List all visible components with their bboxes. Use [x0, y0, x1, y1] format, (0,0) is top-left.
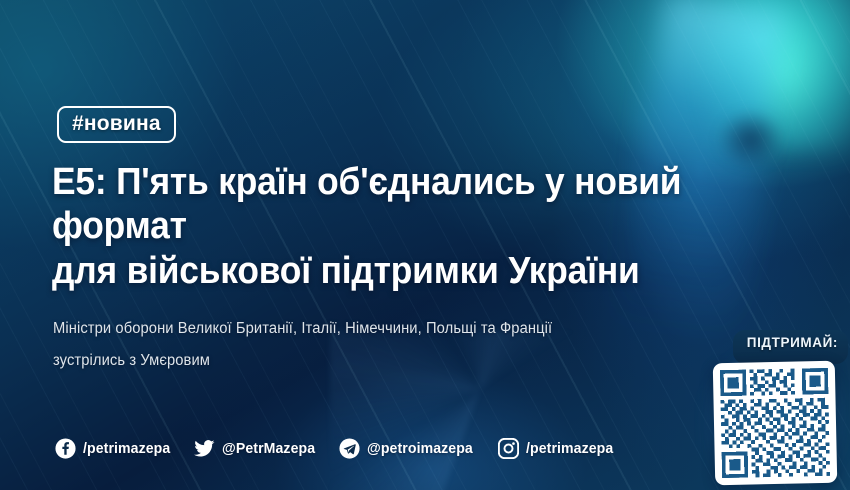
qr-card[interactable]: [713, 361, 838, 486]
subtitle-line-2: зустрілись з Умєровим: [53, 345, 661, 377]
news-card: #новина E5: П'ять країн об'єднались у но…: [0, 0, 850, 490]
qr-code: [720, 368, 830, 478]
facebook-icon: [55, 438, 76, 459]
social-handle: @petroimazepa: [367, 440, 473, 457]
headline: E5: П'ять країн об'єднались у новий форм…: [52, 160, 722, 293]
headline-line-1: E5: П'ять країн об'єднались у новий форм…: [52, 161, 681, 247]
social-item-facebook[interactable]: /petrimazepa: [55, 438, 176, 459]
social-links: /petrimazepa @PetrMazepa @petroimazepa /…: [55, 434, 619, 462]
cyan-plume-glow: [700, 0, 850, 150]
category-badge: #новина: [57, 106, 176, 143]
social-handle: /petrimazepa: [526, 440, 613, 457]
headline-line-2: для військової підтримки України: [52, 249, 722, 293]
instagram-icon: [498, 438, 519, 459]
social-item-instagram[interactable]: /petrimazepa: [498, 438, 619, 459]
support-qr-block[interactable]: ПІДТРИМАЙ:: [706, 330, 846, 490]
social-item-twitter[interactable]: @PetrMazepa: [194, 438, 321, 459]
dark-blob-shadow: [718, 110, 784, 168]
subtitle: Міністри оборони Великої Британії, Італі…: [53, 313, 661, 377]
telegram-icon: [339, 438, 360, 459]
support-label: ПІДТРИМАЙ:: [733, 330, 848, 364]
social-handle: /petrimazepa: [83, 440, 170, 457]
social-handle: @PetrMazepa: [222, 440, 315, 457]
twitter-icon: [194, 438, 215, 459]
subtitle-line-1: Міністри оборони Великої Британії, Італі…: [53, 320, 552, 337]
social-item-telegram[interactable]: @petroimazepa: [339, 438, 480, 459]
